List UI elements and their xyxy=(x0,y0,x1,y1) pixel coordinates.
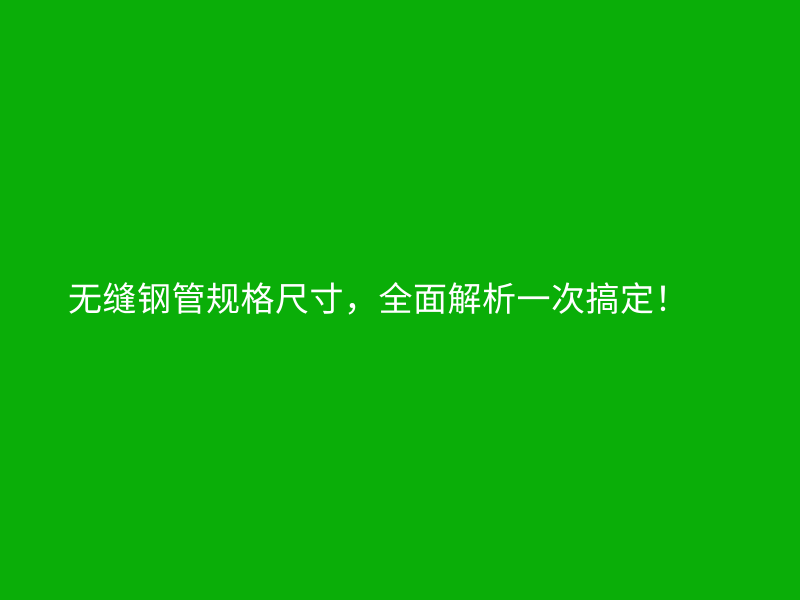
headline-container: 无缝钢管规格尺寸，全面解析一次搞定！ xyxy=(0,0,800,600)
headline-text: 无缝钢管规格尺寸，全面解析一次搞定！ xyxy=(0,280,689,320)
banner-canvas: 无缝钢管规格尺寸，全面解析一次搞定！ xyxy=(0,0,800,600)
